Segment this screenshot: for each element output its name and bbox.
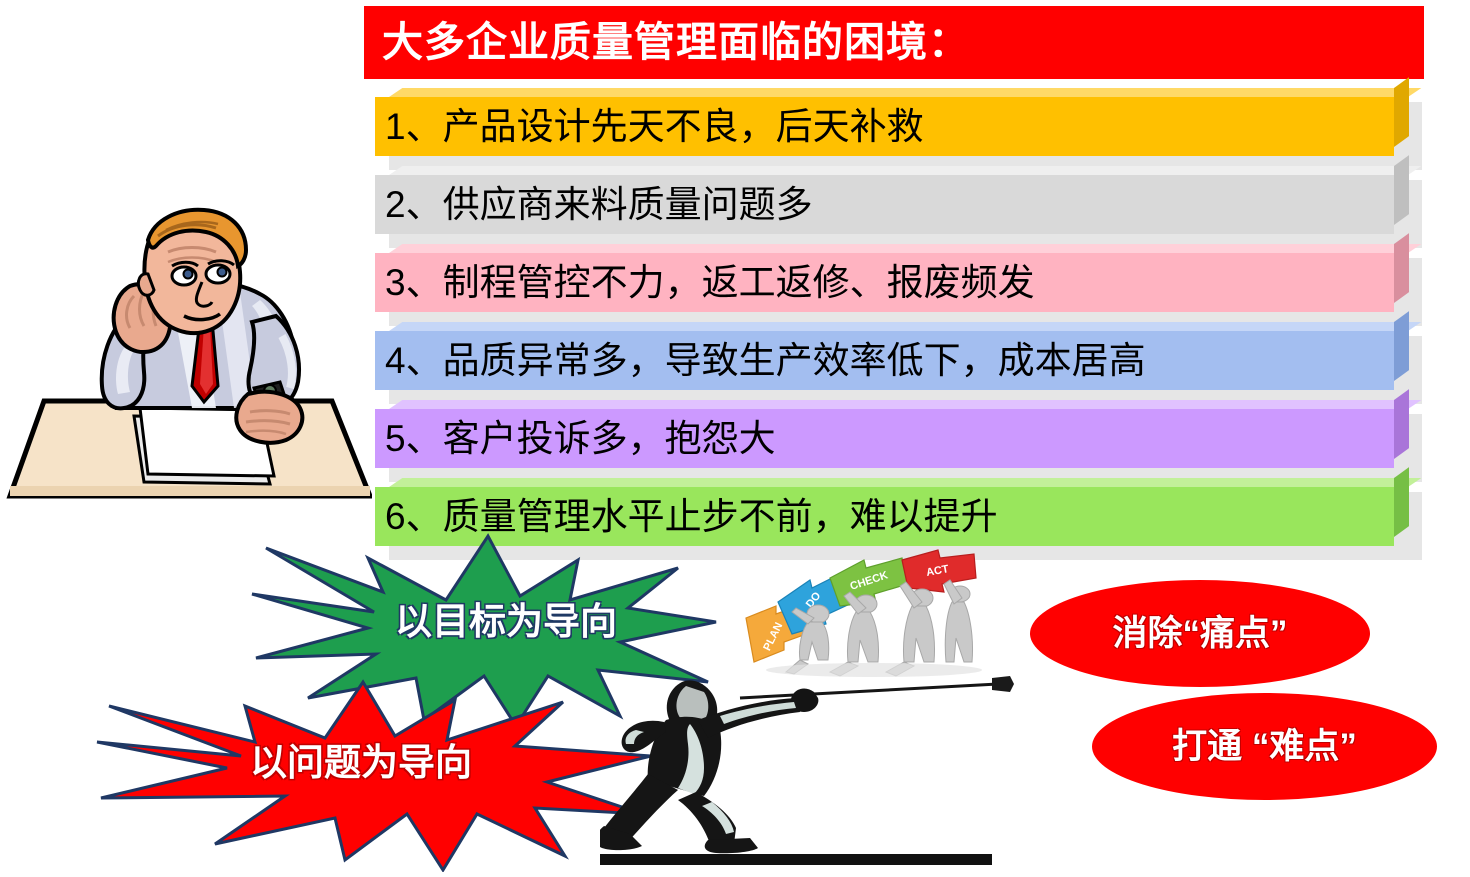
bar-side-bevel bbox=[1394, 155, 1409, 225]
pdca-figure bbox=[886, 582, 935, 676]
bar-side-bevel bbox=[1394, 467, 1409, 537]
callout-ellipse-label: 打通 “难点” bbox=[1172, 729, 1357, 764]
bar-top-bevel bbox=[389, 478, 1421, 487]
bar-face: 2、供应商来料质量问题多 bbox=[375, 175, 1394, 234]
bar-face: 5、客户投诉多，抱怨大 bbox=[375, 409, 1394, 468]
fencer-floor-strip bbox=[600, 854, 992, 865]
pdca-teamwork-graphic: PLAN DO CHECK ACT bbox=[742, 546, 1004, 678]
bar-face: 3、制程管控不力，返工返修、报废频发 bbox=[375, 253, 1394, 312]
bar-top-bevel bbox=[389, 322, 1421, 331]
bar-top-bevel bbox=[389, 88, 1421, 97]
bar-side-bevel bbox=[1394, 311, 1409, 381]
callout-ellipse-pain-points[interactable]: 消除“痛点” bbox=[1030, 580, 1370, 687]
bar-top-bevel bbox=[389, 166, 1421, 175]
problem-bar-label: 3、制程管控不力，返工返修、报废频发 bbox=[385, 264, 1035, 301]
bored-businessman-illustration bbox=[2, 196, 372, 508]
problem-bar-label: 2、供应商来料质量问题多 bbox=[385, 186, 813, 223]
problem-bar-label: 4、品质异常多，导致生产效率低下，成本居高 bbox=[385, 342, 1146, 379]
slide-canvas: 大多企业质量管理面临的困境： 1、产品设计先天不良，后天补救 2、供应商来料质量… bbox=[0, 0, 1470, 871]
bar-face: 4、品质异常多，导致生产效率低下，成本居高 bbox=[375, 331, 1394, 390]
fencer-sword-tip bbox=[992, 676, 1014, 692]
slide-title-text: 大多企业质量管理面临的困境： bbox=[382, 22, 970, 63]
problem-bar-label: 1、产品设计先天不良，后天补救 bbox=[385, 108, 924, 145]
bar-top-bevel bbox=[389, 244, 1421, 253]
pdca-arrow-act: ACT bbox=[902, 550, 976, 592]
problem-bar-label: 5、客户投诉多，抱怨大 bbox=[385, 420, 776, 457]
callout-ellipse-difficult-points[interactable]: 打通 “难点” bbox=[1092, 693, 1437, 800]
bar-side-bevel bbox=[1394, 77, 1409, 147]
pdca-figure bbox=[944, 580, 973, 662]
bar-top-bevel bbox=[389, 400, 1421, 409]
fencer-sword-blade bbox=[740, 684, 998, 698]
bar-side-bevel bbox=[1394, 233, 1409, 303]
callout-ellipse-label: 消除“痛点” bbox=[1112, 616, 1287, 651]
slide-title-banner: 大多企业质量管理面临的困境： bbox=[364, 6, 1424, 79]
red-starburst-shape bbox=[95, 672, 655, 872]
fencer-silhouette bbox=[600, 668, 1030, 868]
bar-side-bevel bbox=[1394, 389, 1409, 459]
bar-face: 1、产品设计先天不良，后天补救 bbox=[375, 97, 1394, 156]
